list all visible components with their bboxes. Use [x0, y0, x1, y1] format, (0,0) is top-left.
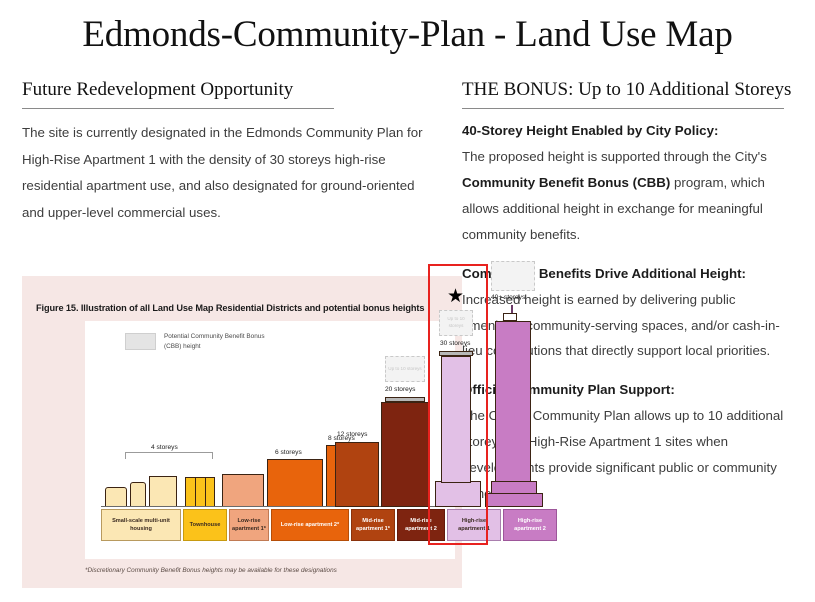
bar-high-rise-apartment-2-cap — [503, 313, 517, 321]
bar-high-rise-apartment-2-tower — [495, 321, 531, 482]
townhouse-divider-2 — [205, 477, 206, 507]
category-low-rise-apartment-2: Low-rise apartment 2* — [271, 509, 349, 541]
bar-small-scale-b — [130, 482, 146, 507]
figure-footnote: *Discretionary Community Benefit Bonus h… — [85, 567, 337, 574]
right-heading-rule — [462, 108, 784, 110]
cbb-legend-line1: Potential Community Benefit Bonus — [164, 332, 265, 342]
left-column-heading: Future Redevelopment Opportunity — [22, 79, 293, 106]
bonus-box-text: Up to 10 storeys — [440, 316, 472, 329]
bar-small-scale-c — [149, 476, 177, 507]
figure-caption: Figure 15. Illustration of all Land Use … — [36, 303, 424, 313]
category-mid-rise-apartment-2: Mid-rise apartment 2 — [397, 509, 445, 541]
right-column-heading: THE BONUS: Up to 10 Additional Storeys — [462, 79, 791, 106]
category-small-scale-multi-unit-housing: Small-scale multi-unit housing — [101, 509, 181, 541]
paragraph-1-text-before: The proposed height is supported through… — [462, 149, 767, 164]
label-20-storeys: 20 storeys — [385, 386, 415, 393]
bar-mid-rise-apartment-2-cap — [385, 397, 425, 402]
bonus-box-high-rise-apartment-2 — [491, 261, 535, 291]
bonus-box-high-rise-apartment-1: Up to 10 storeys — [439, 310, 473, 336]
bar-high-rise-apartment-1-cap — [439, 351, 473, 356]
bar-mid-rise-apartment-1-12 — [335, 442, 379, 507]
label-12-storeys: 12 storeys — [337, 431, 367, 438]
label-6-storeys: 6 storeys — [275, 449, 302, 456]
right-heading-wrap: THE BONUS: Up to 10 Additional Storeys — [462, 79, 793, 110]
cbb-legend-line2: (CBB) height — [164, 342, 265, 352]
bar-high-rise-apartment-2-base — [485, 493, 543, 507]
category-high-rise-apartment-2: High-rise apartment 2 — [503, 509, 557, 541]
bonus-box-mid-rise-apartment-2: Up to 10 storeys — [385, 356, 425, 382]
page-title: Edmonds-Community-Plan - Land Use Map — [0, 14, 815, 57]
townhouse-divider-1 — [195, 477, 196, 507]
bar-low-rise-apartment-2 — [267, 459, 323, 507]
bar-high-rise-apartment-1-tower — [441, 356, 471, 484]
bonus-paragraph-1: 40-Storey Height Enabled by City Policy:… — [462, 118, 793, 248]
bar-high-rise-apartment-2-podium — [491, 481, 537, 494]
bar-mid-rise-apartment-2 — [381, 402, 429, 507]
bar-high-rise-apartment-1-base — [435, 481, 481, 507]
four-storeys-bracket — [125, 452, 213, 459]
category-mid-rise-apartment-1: Mid-rise apartment 1* — [351, 509, 395, 541]
category-label-row: Small-scale multi-unit housing Townhouse… — [101, 509, 445, 541]
category-townhouse: Townhouse — [183, 509, 227, 541]
figure-panel: Potential Community Benefit Bonus (CBB) … — [85, 321, 455, 559]
bracket-label-4-storeys: 4 storeys — [151, 444, 178, 451]
label-40-plus-storeys: 40+ storeys — [491, 294, 525, 301]
cbb-legend-swatch — [125, 333, 156, 350]
bonus-box-text: Up to 10 storeys — [388, 366, 421, 372]
category-high-rise-apartment-1: High-rise apartment 1 — [447, 509, 501, 541]
bar-low-rise-apartment-1 — [222, 474, 264, 507]
land-use-figure: Figure 15. Illustration of all Land Use … — [22, 276, 462, 588]
left-heading-rule — [22, 108, 334, 110]
left-heading-wrap: Future Redevelopment Opportunity — [22, 79, 434, 110]
bar-small-scale-multi-unit-housing — [105, 487, 127, 507]
left-column-body: The site is currently designated in the … — [22, 120, 434, 226]
bar-townhouse — [185, 477, 215, 507]
label-30-storeys: 30 storeys — [440, 340, 470, 347]
paragraph-3-title: Official Community Plan Support: — [462, 382, 675, 397]
paragraph-1-title: 40-Storey Height Enabled by City Policy: — [462, 123, 718, 138]
paragraph-1-emphasis: Community Benefit Bonus (CBB) — [462, 175, 670, 190]
cbb-legend-label: Potential Community Benefit Bonus (CBB) … — [164, 332, 265, 351]
category-low-rise-apartment-1: Low-rise apartment 1* — [229, 509, 269, 541]
star-marker-icon: ★ — [447, 287, 464, 306]
